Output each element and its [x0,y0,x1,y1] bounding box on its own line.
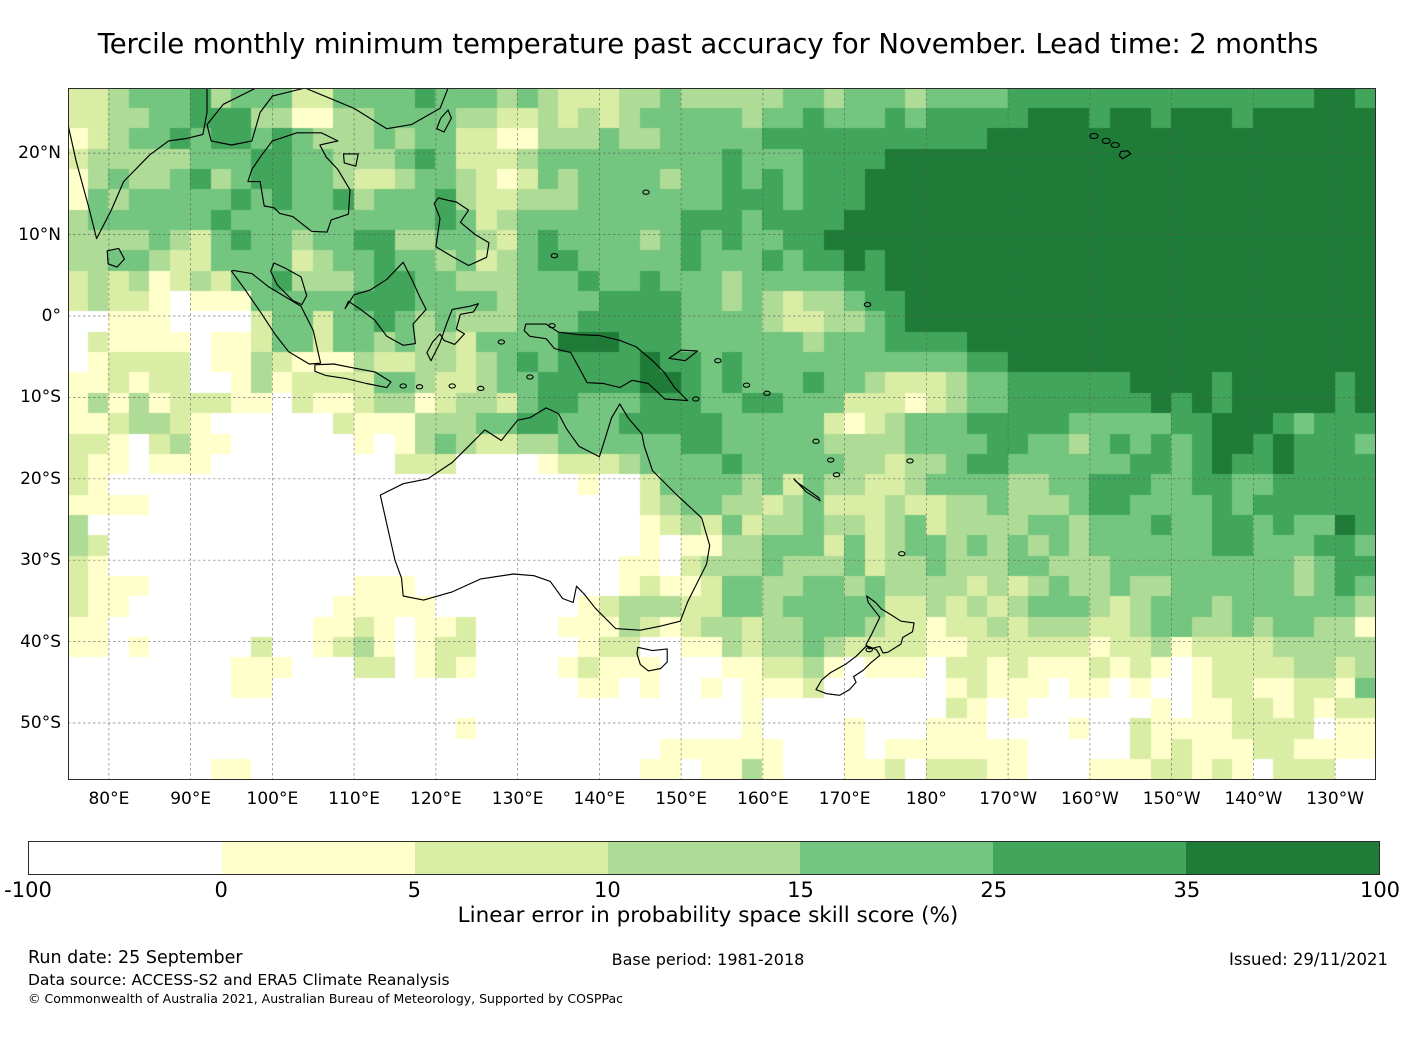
colorbar-tick-label: 10 [594,878,621,902]
longitude-tick-label: 160°W [1061,789,1119,809]
coastline-overlay [68,88,1376,780]
colorbar-tick-label: 100 [1360,878,1400,902]
longitude-tick-label: 170°E [819,789,871,809]
colorbar-tick-label: 25 [980,878,1007,902]
colorbar-segment-2 [415,842,608,874]
longitude-tick-label: 120°E [410,789,462,809]
colorbar [28,841,1380,875]
colorbar-tick-label: 35 [1173,878,1200,902]
longitude-tick-label: 150°E [655,789,707,809]
footer-issued-date: Issued: 29/11/2021 [1229,950,1388,969]
colorbar-segment-0 [29,842,222,874]
colorbar-segment-4 [800,842,993,874]
longitude-tick-label: 170°W [979,789,1037,809]
colorbar-tick-label: 5 [408,878,421,902]
longitude-tick-label: 180° [906,789,947,809]
footer-copyright: © Commonwealth of Australia 2021, Austra… [28,991,623,1006]
latitude-tick-label: 10°N [0,225,61,245]
latitude-tick-label: 30°S [0,550,61,570]
longitude-tick-label: 90°E [170,789,211,809]
colorbar-axis-label: Linear error in probability space skill … [0,903,1416,928]
colorbar-tick-label: -100 [4,878,52,902]
latitude-tick-label: 40°S [0,632,61,652]
latitude-tick-label: 0° [0,306,61,326]
latitude-tick-label: 20°N [0,143,61,163]
longitude-tick-label: 80°E [88,789,129,809]
longitude-tick-label: 140°E [574,789,626,809]
colorbar-segment-5 [993,842,1186,874]
figure-canvas: Tercile monthly minimum temperature past… [0,0,1416,1050]
longitude-tick-label: 100°E [247,789,299,809]
colorbar-tick-label: 0 [214,878,227,902]
latitude-tick-label: 20°S [0,469,61,489]
longitude-tick-label: 160°E [737,789,789,809]
footer-data-source: Data source: ACCESS-S2 and ERA5 Climate … [28,971,450,989]
longitude-tick-label: 130°W [1306,789,1364,809]
colorbar-segment-3 [608,842,801,874]
colorbar-tick-label: 15 [787,878,814,902]
colorbar-segment-6 [1186,842,1379,874]
longitude-tick-label: 110°E [328,789,380,809]
footer-base-period: Base period: 1981-2018 [0,950,1416,969]
colorbar-segment-1 [222,842,415,874]
longitude-tick-label: 150°W [1143,789,1201,809]
chart-title: Tercile monthly minimum temperature past… [0,28,1416,60]
latitude-tick-label: 10°S [0,387,61,407]
map-plot-area [68,88,1376,780]
latitude-tick-label: 50°S [0,713,61,733]
longitude-tick-label: 140°W [1224,789,1282,809]
longitude-tick-label: 130°E [492,789,544,809]
